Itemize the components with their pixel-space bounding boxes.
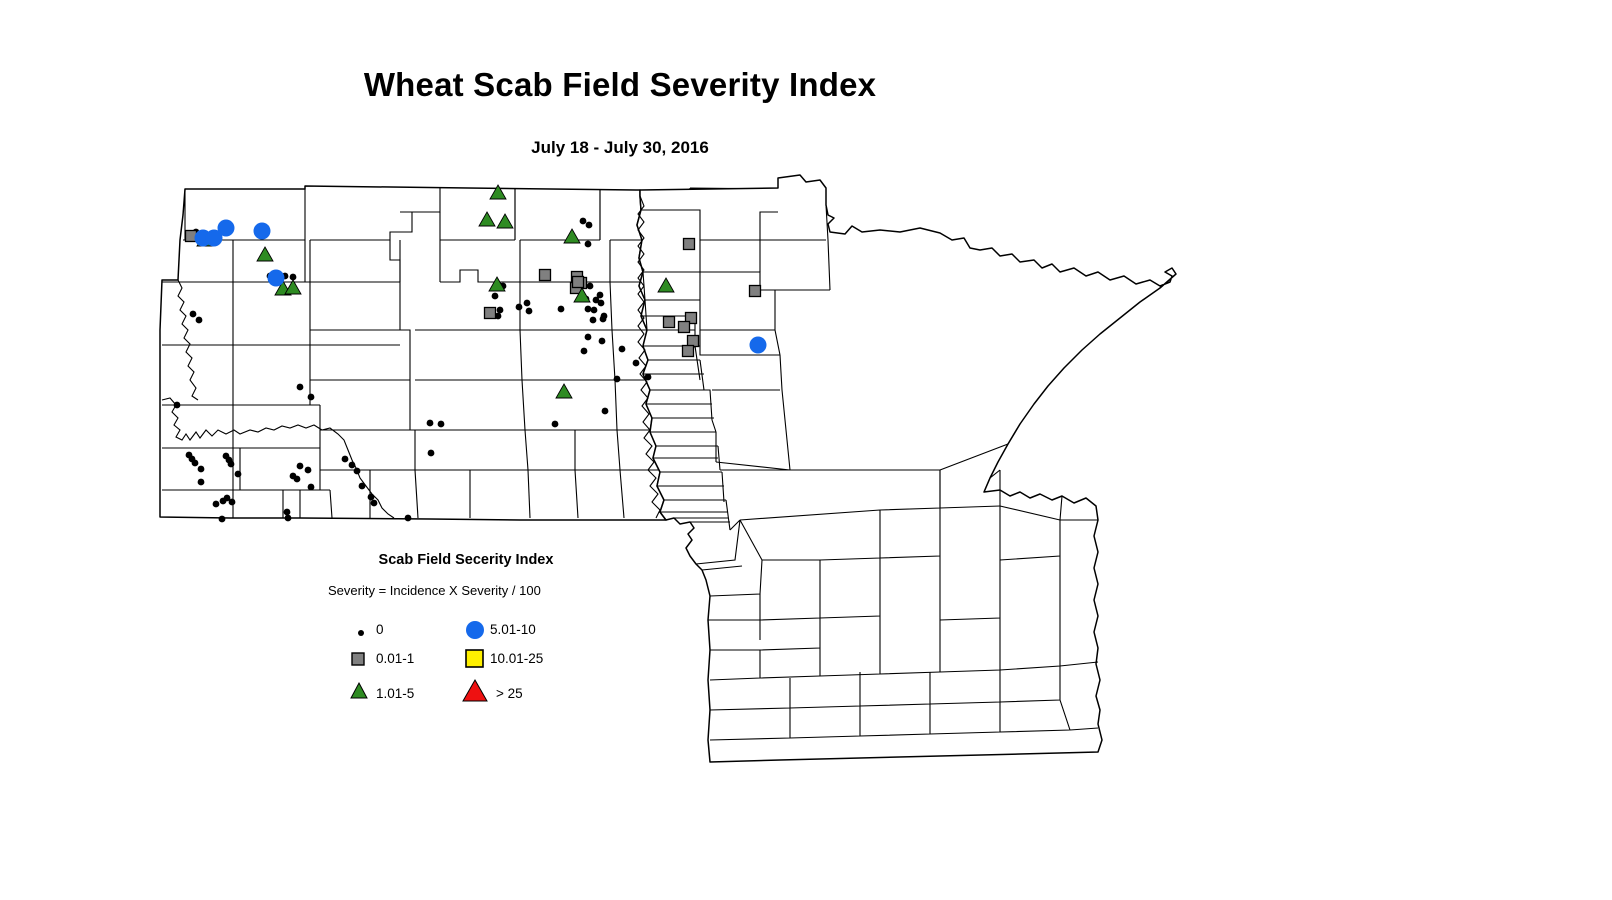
map-visualization: Wheat Scab Field Severity Index July 18 … — [0, 0, 1612, 900]
map-marker-gray — [664, 317, 675, 328]
legend-symbol-3 — [462, 615, 488, 641]
map-marker-blue — [750, 337, 767, 354]
map-marker-dot — [580, 218, 587, 225]
map-marker-dot — [359, 483, 366, 490]
map-marker-dot — [602, 408, 609, 415]
map-marker-gray — [540, 270, 551, 281]
map-marker-dot — [619, 346, 626, 353]
map-marker-dot — [220, 498, 227, 505]
map-marker-gray — [485, 308, 496, 319]
map-marker-dot — [614, 376, 621, 383]
legend: Scab Field Secerity Index Severity = Inc… — [328, 552, 628, 598]
legend-label-5: > 25 — [496, 686, 523, 701]
legend-symbol-2 — [348, 680, 372, 702]
map-marker-dot — [591, 307, 598, 314]
map-marker-dot — [354, 468, 361, 475]
map-canvas — [0, 0, 1612, 900]
map-marker-gray — [573, 277, 584, 288]
map-marker-dot — [645, 374, 652, 381]
map-marker-dot — [235, 471, 242, 478]
map-marker-dot — [587, 283, 594, 290]
map-marker-dot — [585, 334, 592, 341]
map-marker-dot — [368, 494, 375, 501]
legend-label-3: 5.01-10 — [490, 622, 536, 637]
map-marker-dot — [524, 300, 531, 307]
map-marker-dot — [228, 461, 235, 468]
legend-symbol-5 — [460, 676, 490, 704]
map-marker-dot — [633, 360, 640, 367]
map-marker-dot — [585, 241, 592, 248]
map-marker-dot — [174, 402, 181, 409]
map-marker-dot — [308, 484, 315, 491]
map-marker-dot — [196, 317, 203, 324]
map-marker-dot — [438, 421, 445, 428]
map-marker-dot — [190, 311, 197, 318]
minnesota-outline — [637, 175, 1176, 762]
legend-symbol-4 — [462, 644, 488, 670]
legend-symbol-1 — [348, 648, 370, 670]
map-marker-dot — [585, 306, 592, 313]
legend-label-1: 0.01-1 — [376, 651, 414, 666]
map-marker-blue — [268, 270, 285, 287]
map-marker-dot — [229, 499, 236, 506]
map-marker-dot — [284, 509, 291, 516]
map-marker-dot — [497, 307, 504, 314]
map-marker-dot — [516, 304, 523, 311]
map-marker-dot — [558, 306, 565, 313]
map-marker-dot — [371, 500, 378, 507]
map-marker-dot — [308, 394, 315, 401]
map-marker-dot — [198, 466, 205, 473]
map-marker-dot — [192, 460, 199, 467]
map-marker-dot — [599, 338, 606, 345]
map-marker-dot — [600, 316, 607, 323]
map-svg — [0, 0, 1612, 900]
map-marker-dot — [552, 421, 559, 428]
map-marker-dot — [294, 476, 301, 483]
map-marker-gray — [750, 286, 761, 297]
legend-formula: Severity = Incidence X Severity / 100 — [328, 583, 628, 598]
map-marker-dot — [492, 293, 499, 300]
map-marker-dot — [305, 467, 312, 474]
legend-label-2: 1.01-5 — [376, 686, 414, 701]
map-marker-dot — [285, 515, 292, 522]
map-marker-dot — [428, 450, 435, 457]
map-marker-dot — [297, 463, 304, 470]
map-marker-dot — [581, 348, 588, 355]
map-marker-dot — [405, 515, 412, 522]
map-marker-dot — [297, 384, 304, 391]
map-marker-gray — [683, 346, 694, 357]
legend-title: Scab Field Secerity Index — [336, 552, 596, 568]
map-marker-dot — [219, 516, 226, 523]
map-marker-blue — [254, 223, 271, 240]
map-marker-dot — [590, 317, 597, 324]
map-marker-dot — [526, 308, 533, 315]
legend-label-0: 0 — [376, 622, 384, 637]
map-marker-dot — [342, 456, 349, 463]
legend-label-4: 10.01-25 — [490, 651, 543, 666]
map-marker-dot — [586, 222, 593, 229]
map-marker-blue — [206, 230, 223, 247]
map-marker-dot — [427, 420, 434, 427]
map-marker-dot — [598, 300, 605, 307]
map-marker-gray — [684, 239, 695, 250]
map-marker-dot — [198, 479, 205, 486]
map-marker-dot — [213, 501, 220, 508]
map-marker-dot — [349, 462, 356, 469]
legend-symbol-0 — [350, 620, 372, 642]
map-marker-gray — [679, 322, 690, 333]
